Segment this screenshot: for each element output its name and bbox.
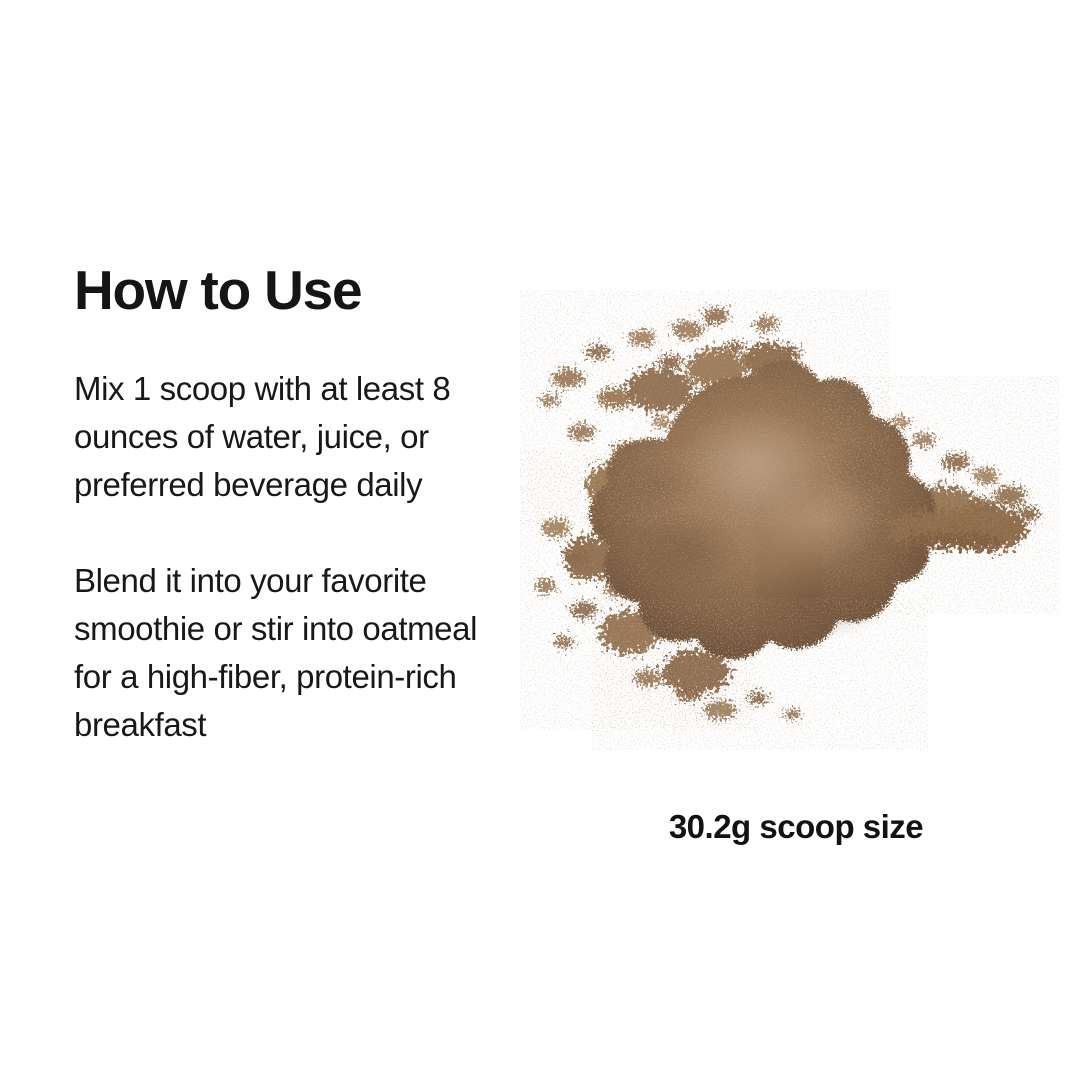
protein-powder-illustration bbox=[520, 290, 1060, 750]
instruction-paragraph-1: Mix 1 scoop with at least 8 ounces of wa… bbox=[74, 365, 504, 509]
how-to-use-panel: How to Use Mix 1 scoop with at least 8 o… bbox=[0, 0, 1080, 1080]
page-title: How to Use bbox=[74, 262, 504, 319]
instruction-paragraph-2: Blend it into your favorite smoothie or … bbox=[74, 557, 504, 749]
powder-image bbox=[520, 290, 1060, 750]
scoop-size-caption: 30.2g scoop size bbox=[556, 808, 1036, 846]
text-column: How to Use Mix 1 scoop with at least 8 o… bbox=[74, 262, 504, 749]
